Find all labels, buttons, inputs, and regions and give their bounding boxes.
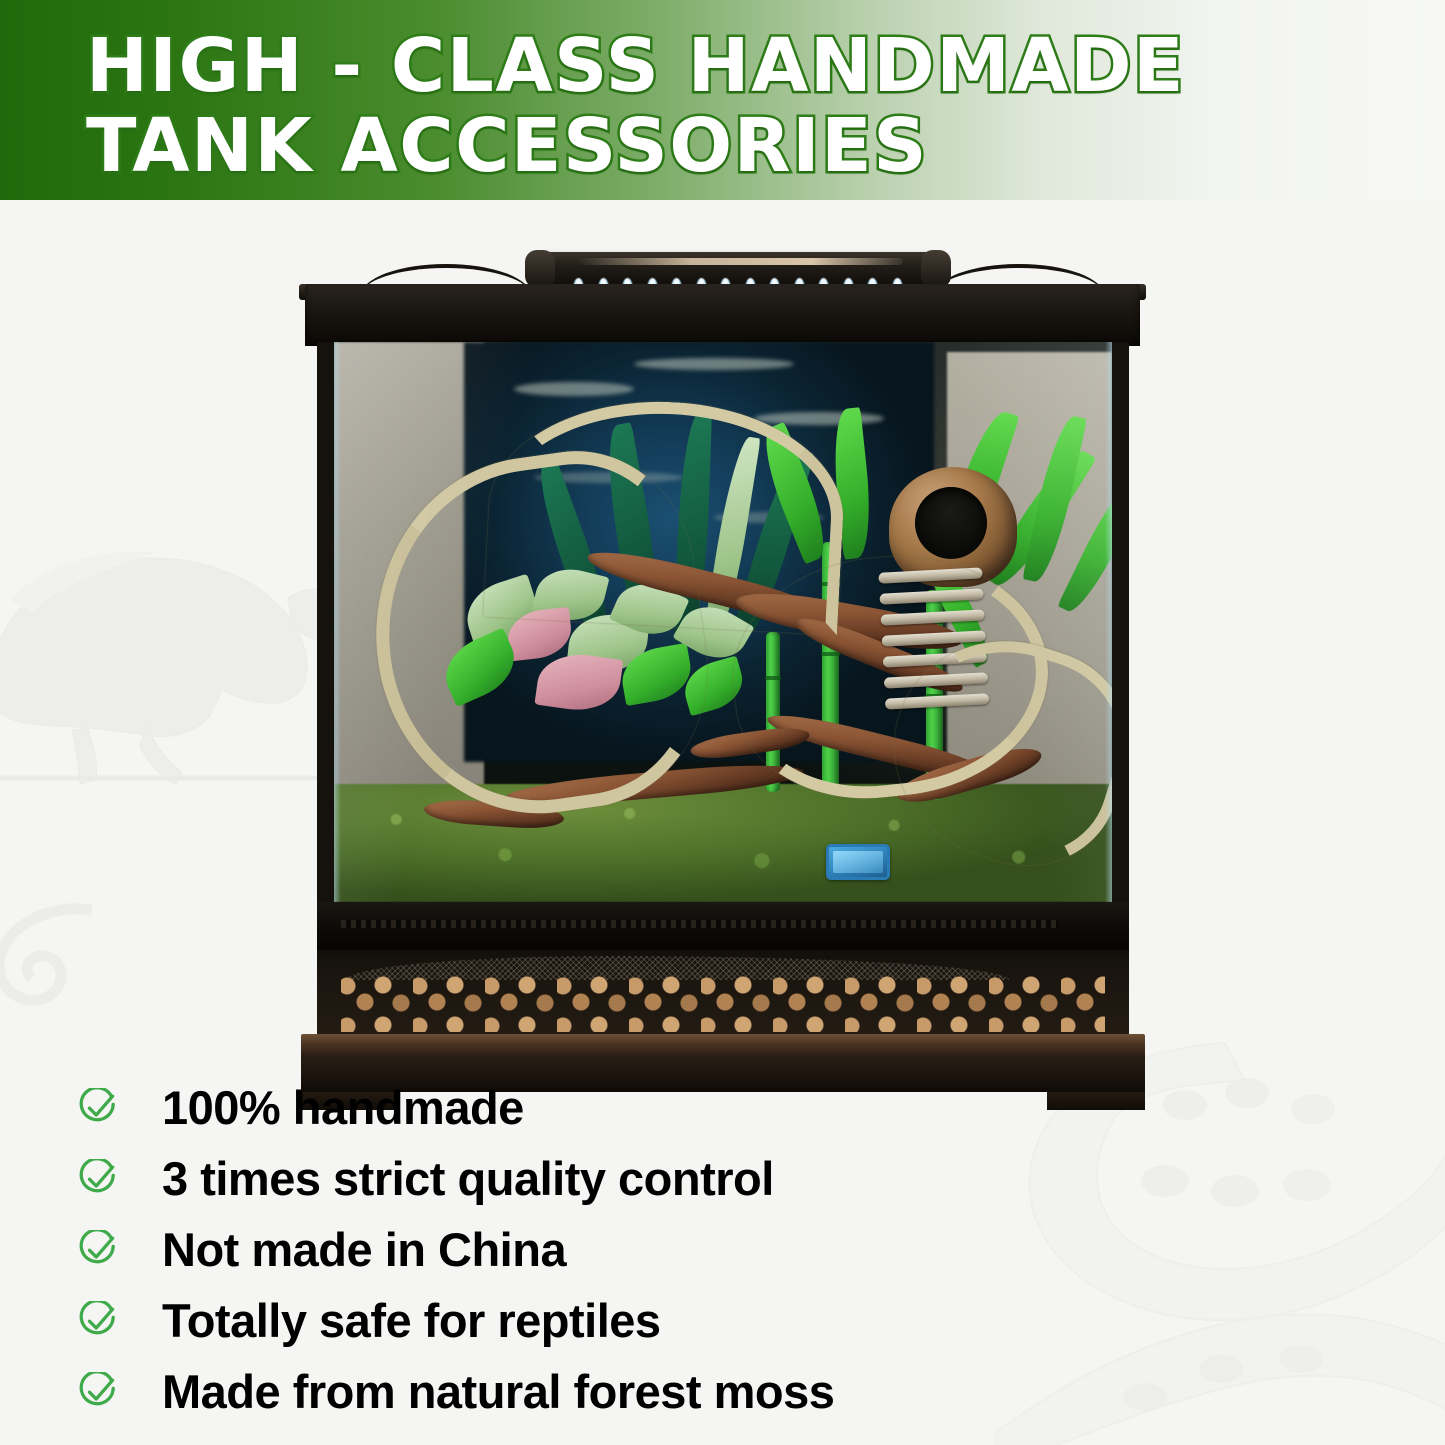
check-circle-icon [78,1230,118,1270]
tank-base-trim [301,1034,1145,1056]
feature-list: 100% handmade 3 times strict quality con… [78,1072,1078,1427]
glass-edge-left [334,342,341,902]
feature-label: Not made in China [162,1224,566,1276]
led-bar-highlight [577,258,903,265]
check-circle-icon [78,1088,118,1128]
glass-edge-right [1105,342,1112,902]
product-infographic: HIGH - CLASS HANDMADE TANK ACCESSORIES [0,0,1445,1445]
chameleon-tail-watermark [0,900,100,1020]
feature-label: Made from natural forest moss [162,1366,834,1418]
feature-item: Not made in China [78,1214,1078,1285]
feature-item: 100% handmade [78,1072,1078,1143]
check-circle-icon [78,1372,118,1412]
feature-label: 3 times strict quality control [162,1153,774,1205]
check-circle-icon [78,1301,118,1341]
feature-item: 3 times strict quality control [78,1143,1078,1214]
coconut-hide-opening [915,487,987,559]
blue-thermometer [826,844,890,880]
vent-slots [341,920,1059,928]
tank-interior [334,342,1112,902]
feature-label: Totally safe for reptiles [162,1295,661,1347]
tank-glass-body [317,342,1129,902]
tank-hood [305,284,1140,346]
header-banner: HIGH - CLASS HANDMADE TANK ACCESSORIES [0,0,1445,200]
drainage-layer [317,950,1129,1038]
feature-item: Totally safe for reptiles [78,1285,1078,1356]
clay-ball-layer [341,976,1105,1032]
tank-vent-band [317,902,1129,950]
check-circle-icon [78,1159,118,1199]
feature-item: Made from natural forest moss [78,1356,1078,1427]
feature-label: 100% handmade [162,1082,524,1134]
terrarium-tank-image [295,248,1150,1038]
page-title: HIGH - CLASS HANDMADE TANK ACCESSORIES [86,26,1186,186]
